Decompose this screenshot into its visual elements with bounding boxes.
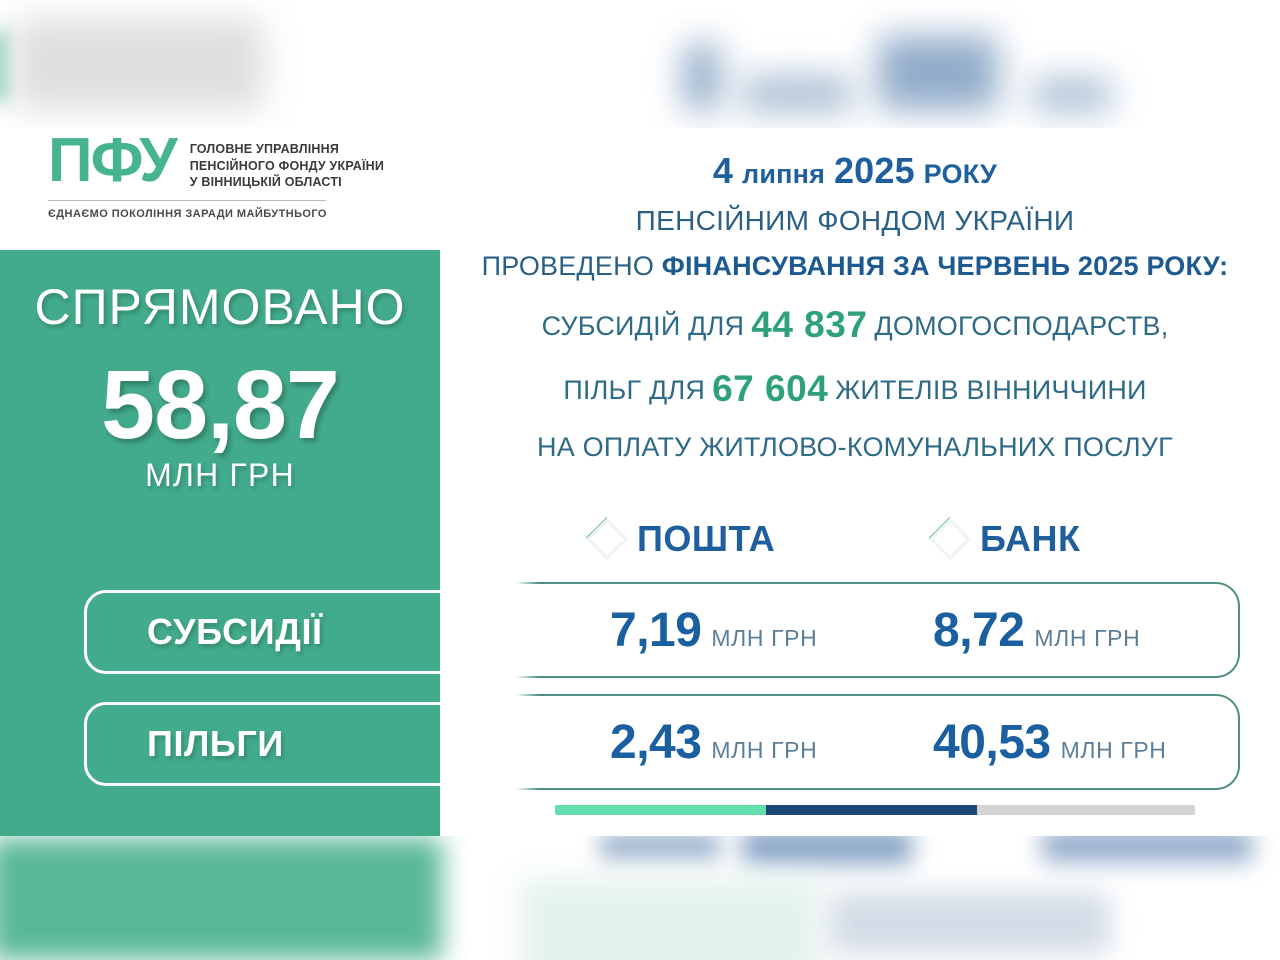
progress-segment-gray: [977, 805, 1195, 815]
stat-benefits-prefix: ПІЛЬГ ДЛЯ: [563, 375, 705, 405]
stat-subsidies: СУБСИДІЙ ДЛЯ44 837ДОМОГОСПОДАРСТВ,: [455, 304, 1255, 346]
logo-tagline: ЄДНАЄМО ПОКОЛІННЯ ЗАРАДИ МАЙБУТНЬОГО: [48, 208, 348, 220]
headline-block: 4 липня 2025 РОКУ ПЕНСІЙНИМ ФОНДОМ УКРАЇ…: [455, 150, 1255, 463]
diamond-check-icon: [587, 519, 627, 559]
date-headline: 4 липня 2025 РОКУ: [455, 150, 1255, 192]
total-amount-panel: СПРЯМОВАНО 58,87 МЛН ГРН СУБСИДІЇ ПІЛЬГИ: [0, 250, 440, 838]
headline-year: 2025: [834, 150, 915, 191]
progress-segment-navy: [766, 805, 977, 815]
infographic-canvas: ПФУ ГОЛОВНЕ УПРАВЛІННЯ ПЕНСІЙНОГО ФОНДУ …: [0, 0, 1280, 960]
category-button-subsidies-label: СУБСИДІЇ: [147, 611, 323, 653]
headline-line-3-prefix: ПРОВЕДЕНО: [482, 251, 662, 281]
blurred-bottom-chrome: [0, 836, 1280, 960]
pfu-logo: ПФУ ГОЛОВНЕ УПРАВЛІННЯ ПЕНСІЙНОГО ФОНДУ …: [48, 132, 348, 247]
total-amount-value: 58,87: [0, 358, 440, 451]
value-cell-posta-subsidies: 7,19 МЛН ГРН: [610, 603, 817, 658]
value-bank-benefits: 40,53: [933, 715, 1051, 770]
unit-posta-subsidies: МЛН ГРН: [711, 625, 817, 652]
category-button-benefits-label: ПІЛЬГИ: [147, 723, 284, 765]
total-amount-unit: МЛН ГРН: [0, 457, 440, 494]
channel-bank-label: БАНК: [980, 518, 1080, 560]
logo-org-line-1: ГОЛОВНЕ УПРАВЛІННЯ: [190, 141, 384, 158]
logo-org-line-2: ПЕНСІЙНОГО ФОНДУ УКРАЇНИ: [190, 158, 384, 175]
value-row-benefits: 2,43 МЛН ГРН 40,53 МЛН ГРН: [515, 694, 1240, 790]
headline-line-3-bold: ФІНАНСУВАННЯ ЗА ЧЕРВЕНЬ 2025 РОКУ:: [662, 251, 1229, 281]
stat-subsidies-count: 44 837: [744, 304, 874, 345]
value-posta-subsidies: 7,19: [610, 603, 701, 658]
accent-progress-bar: [555, 805, 1195, 815]
value-cell-bank-subsidies: 8,72 МЛН ГРН: [933, 603, 1140, 658]
headline-line-3: ПРОВЕДЕНО ФІНАНСУВАННЯ ЗА ЧЕРВЕНЬ 2025 Р…: [455, 251, 1255, 282]
stat-benefits: ПІЛЬГ ДЛЯ67 604ЖИТЕЛІВ ВІННИЧЧИНИ: [455, 368, 1255, 410]
stat-benefits-count: 67 604: [705, 368, 835, 409]
headline-line-2: ПЕНСІЙНИМ ФОНДОМ УКРАЇНИ: [455, 205, 1255, 237]
stat-subsidies-suffix: ДОМОГОСПОДАРСТВ,: [874, 311, 1168, 341]
stat-benefits-suffix: ЖИТЕЛІВ ВІННИЧЧИНИ: [835, 375, 1146, 405]
value-cell-bank-benefits: 40,53 МЛН ГРН: [933, 715, 1166, 770]
logo-divider: [48, 200, 326, 201]
value-posta-benefits: 2,43: [610, 715, 701, 770]
headline-month: липня: [742, 159, 825, 189]
progress-segment-green: [555, 805, 766, 815]
stat-subsidies-prefix: СУБСИДІЙ ДЛЯ: [542, 311, 745, 341]
category-button-subsidies[interactable]: СУБСИДІЇ: [84, 590, 440, 674]
unit-bank-subsidies: МЛН ГРН: [1034, 625, 1140, 652]
diamond-check-icon: [930, 519, 970, 559]
value-cell-posta-benefits: 2,43 МЛН ГРН: [610, 715, 817, 770]
channel-posta: ПОШТА: [587, 518, 775, 560]
panel-title: СПРЯМОВАНО: [0, 278, 440, 336]
headline-day: 4: [713, 150, 733, 191]
value-row-subsidies: 7,19 МЛН ГРН 8,72 МЛН ГРН: [515, 582, 1240, 678]
channel-headers: ПОШТА БАНК: [575, 518, 1195, 570]
headline-year-word: РОКУ: [924, 159, 997, 189]
blurred-top-chrome: [0, 0, 1280, 128]
logo-org-line-3: У ВІННИЦЬКІЙ ОБЛАСТІ: [190, 174, 384, 191]
category-button-benefits[interactable]: ПІЛЬГИ: [84, 702, 440, 786]
channel-bank: БАНК: [930, 518, 1080, 560]
unit-posta-benefits: МЛН ГРН: [711, 737, 817, 764]
unit-bank-benefits: МЛН ГРН: [1061, 737, 1167, 764]
logo-mark: ПФУ: [48, 132, 176, 189]
channel-posta-label: ПОШТА: [637, 518, 775, 560]
value-bank-subsidies: 8,72: [933, 603, 1024, 658]
stat-purpose: НА ОПЛАТУ ЖИТЛОВО-КОМУНАЛЬНИХ ПОСЛУГ: [455, 432, 1255, 463]
